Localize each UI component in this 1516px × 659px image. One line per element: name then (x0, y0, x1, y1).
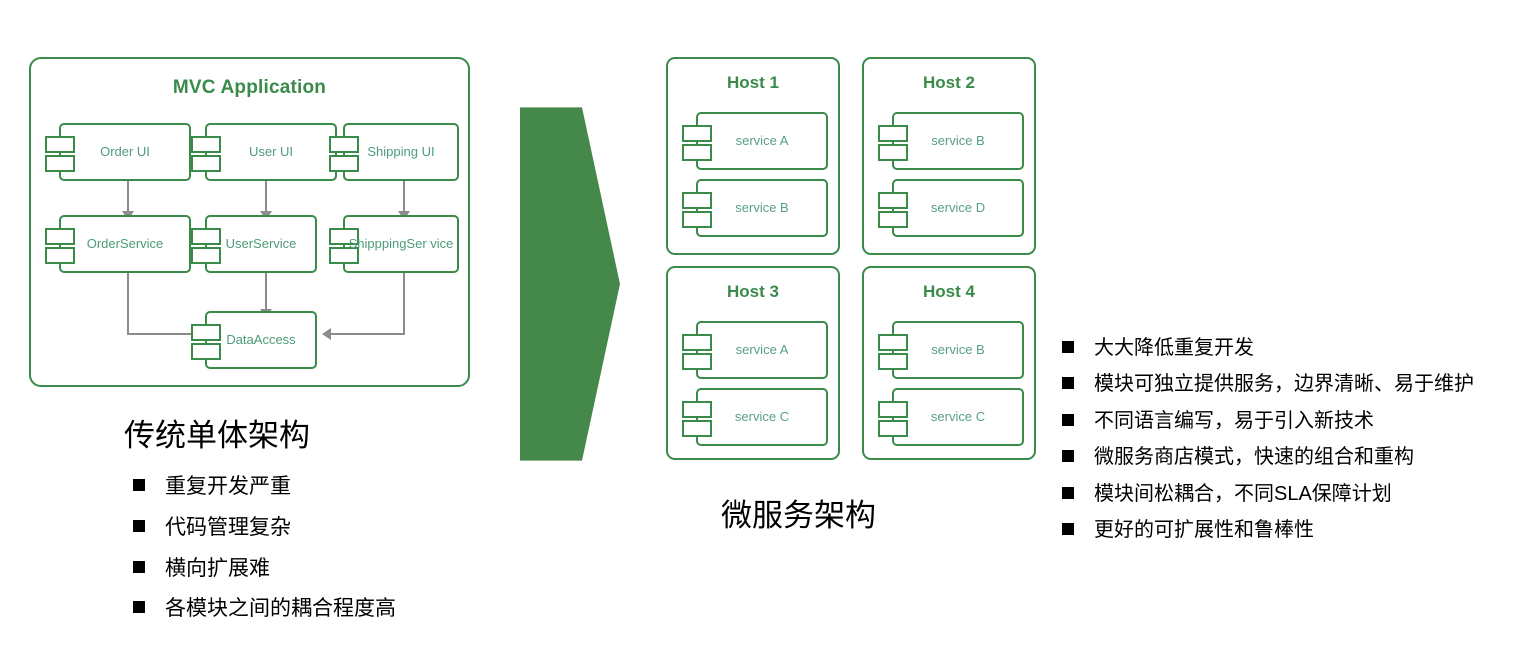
component-label: Order UI (59, 123, 191, 181)
connector-order-ui-to-orderservice (127, 181, 129, 215)
bullet-square-icon (133, 561, 145, 573)
bullet-square-icon (1062, 523, 1074, 535)
connector-shippingservice-to-dataaccess-horizontal (331, 333, 405, 335)
component-label: service D (892, 179, 1024, 237)
bullet-square-icon (133, 479, 145, 491)
microservice-bullet-list: 大大降低重复开发 模块可独立提供服务，边界清晰、易于维护 不同语言编写，易于引入… (1062, 334, 1502, 552)
component-label: User UI (205, 123, 337, 181)
list-item: 代码管理复杂 (133, 513, 513, 543)
component-orderservice[interactable]: OrderService (45, 215, 191, 273)
component-dataaccess[interactable]: DataAccess (191, 311, 317, 369)
bullet-square-icon (1062, 414, 1074, 426)
component-label: service B (696, 179, 828, 237)
component-label: service B (892, 112, 1024, 170)
component-label: service A (696, 321, 828, 379)
transition-arrow-icon (520, 100, 620, 468)
mvc-application-container: MVC Application Order UI User UI Shippin… (29, 57, 470, 387)
component-label: Shipping UI (343, 123, 459, 181)
monolith-heading: 传统单体架构 (124, 410, 310, 455)
list-item-label: 微服务商店模式，快速的组合和重构 (1094, 443, 1414, 471)
component-label: UserService (205, 215, 317, 273)
component-service[interactable]: service A (682, 112, 828, 170)
list-item-label: 模块可独立提供服务，边界清晰、易于维护 (1094, 370, 1474, 398)
bullet-square-icon (133, 601, 145, 613)
list-item-label: 更好的可扩展性和鲁棒性 (1094, 516, 1314, 544)
list-item: 重复开发严重 (133, 472, 513, 502)
connector-userservice-to-dataaccess (265, 273, 267, 313)
host-box-4: Host 4 service B service C (862, 266, 1036, 460)
list-item: 模块可独立提供服务，边界清晰、易于维护 (1062, 370, 1502, 398)
host-title: Host 2 (864, 73, 1034, 93)
microservice-heading: 微服务架构 (721, 490, 876, 535)
connector-arrowhead (322, 328, 331, 340)
bullet-square-icon (1062, 377, 1074, 389)
component-service[interactable]: service D (878, 179, 1024, 237)
list-item: 横向扩展难 (133, 554, 513, 584)
connector-user-ui-to-userservice (265, 181, 267, 215)
component-order-ui[interactable]: Order UI (45, 123, 191, 181)
diagram-canvas: MVC Application Order UI User UI Shippin… (0, 0, 1516, 659)
component-service[interactable]: service C (878, 388, 1024, 446)
component-shipppingservice[interactable]: ShipppingSer vice (329, 215, 459, 273)
component-label: service B (892, 321, 1024, 379)
component-service[interactable]: service B (682, 179, 828, 237)
component-label: service C (892, 388, 1024, 446)
list-item: 各模块之间的耦合程度高 (133, 594, 513, 624)
list-item: 大大降低重复开发 (1062, 334, 1502, 362)
host-title: Host 4 (864, 282, 1034, 302)
list-item: 更好的可扩展性和鲁棒性 (1062, 516, 1502, 544)
host-title: Host 3 (668, 282, 838, 302)
list-item-label: 各模块之间的耦合程度高 (165, 594, 396, 624)
host-title: Host 1 (668, 73, 838, 93)
bullet-square-icon (133, 520, 145, 532)
connector-shippingservice-to-dataaccess-vertical (403, 273, 405, 335)
list-item-label: 模块间松耦合，不同SLA保障计划 (1094, 480, 1392, 508)
component-label: service A (696, 112, 828, 170)
monolith-bullet-list: 重复开发严重 代码管理复杂 横向扩展难 各模块之间的耦合程度高 (133, 472, 513, 635)
list-item-label: 不同语言编写，易于引入新技术 (1094, 407, 1374, 435)
bullet-square-icon (1062, 450, 1074, 462)
component-service[interactable]: service A (682, 321, 828, 379)
component-service[interactable]: service B (878, 112, 1024, 170)
component-label: OrderService (59, 215, 191, 273)
connector-orderservice-to-dataaccess-horizontal (127, 333, 199, 335)
component-shipping-ui[interactable]: Shipping UI (329, 123, 459, 181)
component-label: ShipppingSer vice (343, 215, 459, 273)
host-box-3: Host 3 service A service C (666, 266, 840, 460)
bullet-square-icon (1062, 487, 1074, 499)
component-service[interactable]: service C (682, 388, 828, 446)
list-item-label: 重复开发严重 (165, 472, 291, 502)
mvc-application-title: MVC Application (31, 77, 468, 99)
host-box-2: Host 2 service B service D (862, 57, 1036, 255)
list-item: 微服务商店模式，快速的组合和重构 (1062, 443, 1502, 471)
list-item: 不同语言编写，易于引入新技术 (1062, 407, 1502, 435)
component-label: service C (696, 388, 828, 446)
host-box-1: Host 1 service A service B (666, 57, 840, 255)
component-service[interactable]: service B (878, 321, 1024, 379)
component-userservice[interactable]: UserService (191, 215, 317, 273)
connector-shipping-ui-to-shippingservice (403, 181, 405, 215)
list-item-label: 横向扩展难 (165, 554, 270, 584)
component-label: DataAccess (205, 311, 317, 369)
list-item-label: 大大降低重复开发 (1094, 334, 1254, 362)
list-item-label: 代码管理复杂 (165, 513, 291, 543)
component-user-ui[interactable]: User UI (191, 123, 337, 181)
bullet-square-icon (1062, 341, 1074, 353)
connector-orderservice-to-dataaccess-vertical (127, 273, 129, 335)
list-item: 模块间松耦合，不同SLA保障计划 (1062, 480, 1502, 508)
